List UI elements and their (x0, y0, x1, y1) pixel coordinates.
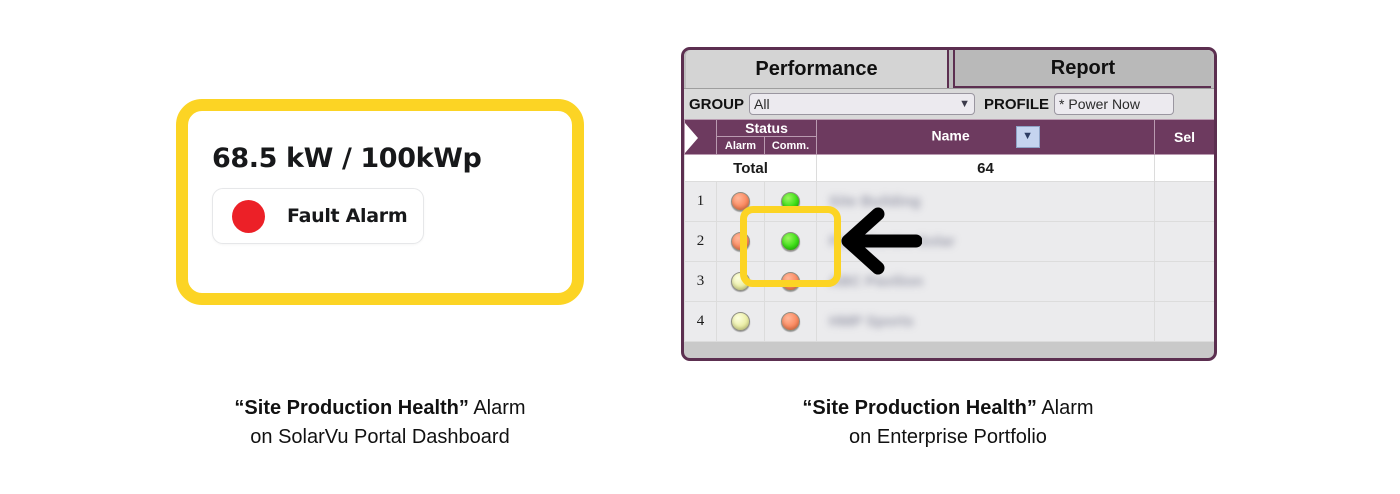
caption-right: “Site Production Health” Alarm on Enterp… (698, 394, 1198, 452)
solarvu-dashboard-card: 68.5 kW / 100kWp Fault Alarm (176, 99, 584, 305)
filter-toolbar: GROUP All ▼ PROFILE * Power Now (684, 88, 1214, 119)
profile-select-value: * Power Now (1059, 96, 1140, 112)
group-select[interactable]: All ▼ (749, 93, 975, 115)
corner-cell[interactable] (685, 120, 717, 155)
tab-report[interactable]: Report (953, 50, 1211, 88)
profile-select[interactable]: * Power Now (1054, 93, 1174, 115)
comm-status-cell (765, 182, 817, 222)
table-row[interactable]: 4 HMP Sports (685, 302, 1215, 342)
row-index: 4 (685, 302, 717, 342)
comm-status-cell (765, 262, 817, 302)
caption-right-line2: on Enterprise Portfolio (698, 423, 1198, 452)
alarm-led-icon (731, 272, 750, 291)
caption-right-quoted: “Site Production Health” (802, 397, 1036, 419)
power-output-heading: 68.5 kW / 100kWp (212, 143, 564, 174)
site-name-redacted: HMP Sports (829, 313, 914, 330)
table-header: Status Name ▼ Sel Alarm Comm. (685, 120, 1215, 155)
total-row: Total 64 (685, 155, 1215, 182)
column-header-select: Sel (1155, 120, 1215, 155)
site-name-cell[interactable]: HMP Sports (817, 302, 1155, 342)
caption-left-line1: “Site Production Health” Alarm (130, 394, 630, 423)
table-body: Total 64 1 Site Building 2 Park Centre S… (685, 155, 1215, 342)
column-header-name-label: Name (932, 128, 970, 144)
group-select-value: All (754, 96, 770, 112)
alarm-status-cell (717, 262, 765, 302)
select-cell[interactable] (1155, 302, 1215, 342)
comm-led-icon (781, 192, 800, 211)
caption-left-line2: on SolarVu Portal Dashboard (130, 423, 630, 452)
pointer-arrow-annotation (836, 204, 922, 278)
table-row[interactable]: 3 ABC Pavilion (685, 262, 1215, 302)
column-header-name[interactable]: Name ▼ (817, 120, 1155, 155)
table-row[interactable]: 2 Park Centre Solar (685, 222, 1215, 262)
alarm-led-icon (731, 192, 750, 211)
alarm-led-icon (731, 312, 750, 331)
caption-right-suffix: Alarm (1037, 397, 1094, 419)
portfolio-table: Status Name ▼ Sel Alarm Comm. Total 64 1 (684, 119, 1215, 342)
comm-led-icon (781, 232, 800, 251)
comm-status-cell (765, 302, 817, 342)
column-header-status: Status (717, 120, 817, 137)
expand-arrow-icon (685, 123, 698, 153)
caption-right-line1: “Site Production Health” Alarm (698, 394, 1198, 423)
column-header-alarm: Alarm (717, 137, 765, 155)
comm-led-icon (781, 272, 800, 291)
tab-bar: Performance Report (684, 50, 1214, 88)
comm-led-icon (781, 312, 800, 331)
total-select-cell (1155, 155, 1215, 182)
tab-performance[interactable]: Performance (686, 50, 949, 88)
row-index: 1 (685, 182, 717, 222)
select-cell[interactable] (1155, 182, 1215, 222)
comm-status-cell (765, 222, 817, 262)
select-cell[interactable] (1155, 262, 1215, 302)
row-index: 3 (685, 262, 717, 302)
column-header-comm: Comm. (765, 137, 817, 155)
fault-alarm-label: Fault Alarm (287, 205, 407, 227)
alarm-status-cell (717, 302, 765, 342)
table-row[interactable]: 1 Site Building (685, 182, 1215, 222)
fault-alarm-led-icon (232, 200, 265, 233)
enterprise-portfolio-panel: Performance Report GROUP All ▼ PROFILE *… (681, 47, 1217, 361)
profile-filter-label: PROFILE (984, 96, 1049, 113)
total-label: Total (685, 155, 817, 182)
chevron-down-icon: ▼ (959, 98, 970, 110)
alarm-status-cell (717, 182, 765, 222)
row-index: 2 (685, 222, 717, 262)
card-content: 68.5 kW / 100kWp Fault Alarm (212, 143, 564, 244)
caption-left-quoted: “Site Production Health” (234, 397, 468, 419)
select-cell[interactable] (1155, 222, 1215, 262)
fault-alarm-status-pill[interactable]: Fault Alarm (212, 188, 424, 244)
alarm-status-cell (717, 222, 765, 262)
caption-left-suffix: Alarm (469, 397, 526, 419)
caption-left: “Site Production Health” Alarm on SolarV… (130, 394, 630, 452)
alarm-led-icon (731, 232, 750, 251)
total-count: 64 (817, 155, 1155, 182)
name-sort-dropdown-icon[interactable]: ▼ (1016, 126, 1040, 148)
group-filter-label: GROUP (689, 96, 744, 113)
